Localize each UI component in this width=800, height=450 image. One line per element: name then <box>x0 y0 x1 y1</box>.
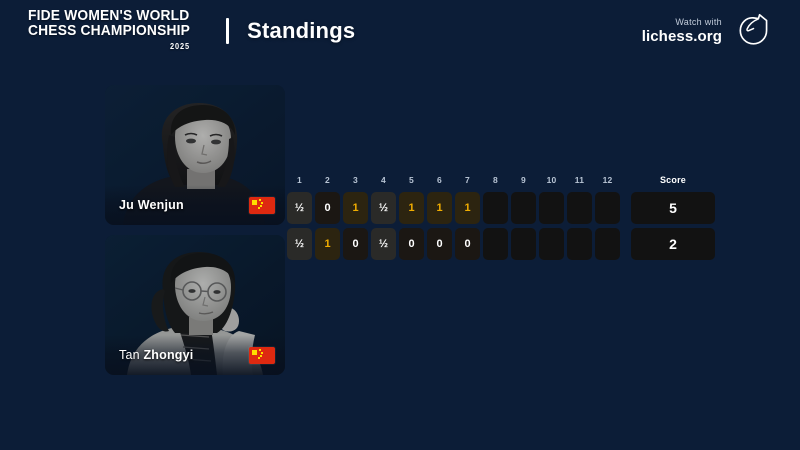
player-name: Ju Wenjun <box>119 198 184 212</box>
player-card-list: Ju Wenjun <box>105 85 285 385</box>
result-cell-round-10[interactable] <box>539 192 564 224</box>
round-header-7: 7 <box>455 175 480 185</box>
result-cell-round-6[interactable]: 1 <box>427 192 452 224</box>
round-header-10: 10 <box>539 175 564 185</box>
round-header-8: 8 <box>483 175 508 185</box>
event-title-line2: CHESS CHAMPIONSHIP <box>28 23 190 38</box>
total-score-cell: 5 <box>631 192 715 224</box>
result-cell-round-3[interactable]: 0 <box>343 228 368 260</box>
player-card-ju-wenjun[interactable]: Ju Wenjun <box>105 85 285 225</box>
scoretable-header-row: 123456789101112Score <box>287 172 715 188</box>
round-header-11: 11 <box>567 175 592 185</box>
result-cell-round-4[interactable]: ½ <box>371 192 396 224</box>
result-cell-round-11[interactable] <box>567 228 592 260</box>
total-score-cell: 2 <box>631 228 715 260</box>
scoretable-row-player1: ½01½1115 <box>287 192 715 224</box>
result-cell-round-1[interactable]: ½ <box>287 228 312 260</box>
result-cell-round-7[interactable]: 0 <box>455 228 480 260</box>
watch-with-label: Watch with <box>642 17 722 27</box>
player-given-name: Tan <box>119 348 140 362</box>
page-title: Standings <box>247 18 355 44</box>
result-cell-round-1[interactable]: ½ <box>287 192 312 224</box>
event-title-line1: FIDE WOMEN'S WORLD <box>28 8 190 23</box>
result-cell-round-2[interactable]: 1 <box>315 228 340 260</box>
round-header-3: 3 <box>343 175 368 185</box>
scoretable-row-player2: ½10½0002 <box>287 228 715 260</box>
china-flag-icon <box>249 347 275 364</box>
result-cell-round-4[interactable]: ½ <box>371 228 396 260</box>
player-name-row: Tan Zhongyi <box>105 335 285 375</box>
result-cell-round-6[interactable]: 0 <box>427 228 452 260</box>
result-cell-round-8[interactable] <box>483 192 508 224</box>
result-cell-round-9[interactable] <box>511 228 536 260</box>
player-name: Tan Zhongyi <box>119 348 193 362</box>
watch-text-block: Watch with lichess.org <box>642 17 722 45</box>
player-given-name: Ju <box>119 198 134 212</box>
watch-with-lichess[interactable]: Watch with lichess.org <box>642 10 800 52</box>
page-header: FIDE WOMEN'S WORLD CHESS CHAMPIONSHIP 20… <box>0 0 800 62</box>
result-cell-round-12[interactable] <box>595 228 620 260</box>
player-card-tan-zhongyi[interactable]: Tan Zhongyi <box>105 235 285 375</box>
player-surname: Wenjun <box>138 198 184 212</box>
header-divider <box>226 18 229 44</box>
event-year: 2025 <box>28 39 190 54</box>
event-title: FIDE WOMEN'S WORLD CHESS CHAMPIONSHIP 20… <box>28 8 190 54</box>
result-cell-round-3[interactable]: 1 <box>343 192 368 224</box>
result-cell-round-2[interactable]: 0 <box>315 192 340 224</box>
standings-scoretable: 123456789101112Score ½01½1115 ½10½0002 <box>287 172 715 260</box>
round-header-2: 2 <box>315 175 340 185</box>
round-header-6: 6 <box>427 175 452 185</box>
round-header-5: 5 <box>399 175 424 185</box>
round-header-9: 9 <box>511 175 536 185</box>
china-flag-icon <box>249 197 275 214</box>
player-surname: Zhongyi <box>143 348 193 362</box>
event-branding: FIDE WOMEN'S WORLD CHESS CHAMPIONSHIP 20… <box>0 8 355 54</box>
player-name-row: Ju Wenjun <box>105 185 285 225</box>
knight-logo-icon <box>732 10 774 52</box>
result-cell-round-12[interactable] <box>595 192 620 224</box>
round-header-1: 1 <box>287 175 312 185</box>
round-header-4: 4 <box>371 175 396 185</box>
result-cell-round-5[interactable]: 0 <box>399 228 424 260</box>
result-cell-round-7[interactable]: 1 <box>455 192 480 224</box>
round-header-12: 12 <box>595 175 620 185</box>
result-cell-round-5[interactable]: 1 <box>399 192 424 224</box>
score-header: Score <box>631 175 715 185</box>
result-cell-round-10[interactable] <box>539 228 564 260</box>
result-cell-round-9[interactable] <box>511 192 536 224</box>
result-cell-round-11[interactable] <box>567 192 592 224</box>
lichess-wordmark: lichess.org <box>642 28 722 45</box>
result-cell-round-8[interactable] <box>483 228 508 260</box>
